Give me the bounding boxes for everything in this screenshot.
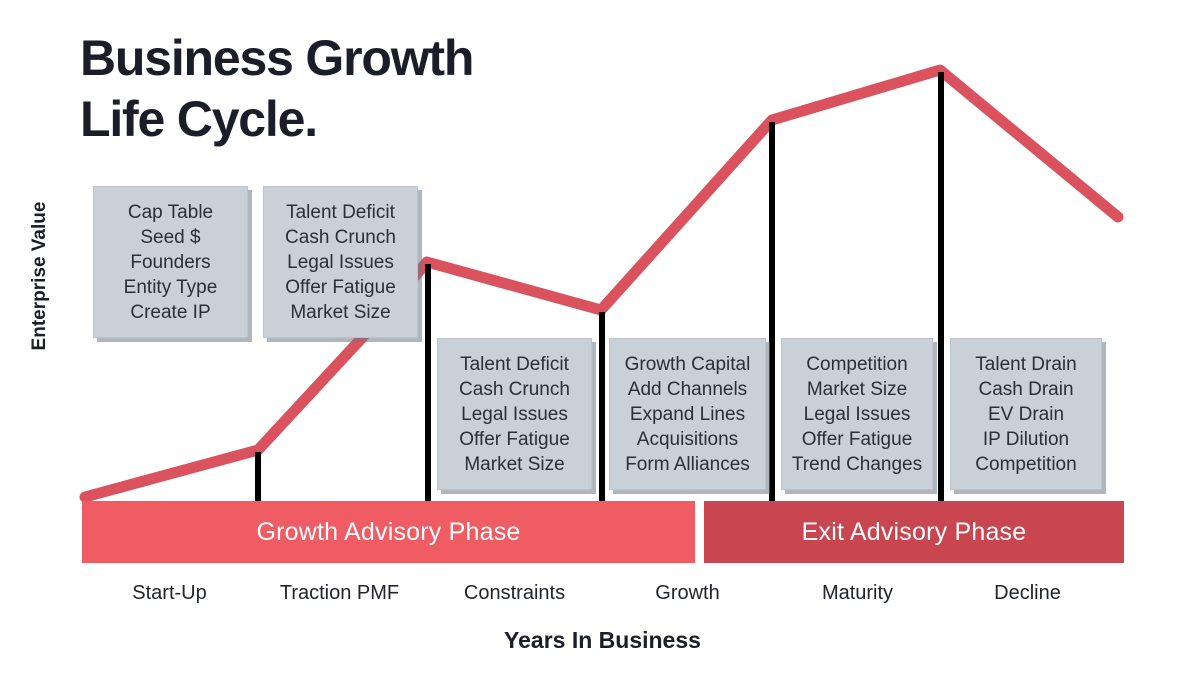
info-box-item: Cap Table (128, 200, 213, 225)
info-box-item: Trend Changes (792, 452, 922, 477)
info-box-start-up: Cap Table Seed $ Founders Entity Type Cr… (93, 186, 248, 338)
info-box-item: Cash Drain (978, 377, 1073, 402)
info-box-item: Form Alliances (625, 452, 750, 477)
info-box-item: Competition (806, 352, 907, 377)
stage-label-growth: Growth (610, 582, 765, 605)
info-box-item: Entity Type (124, 275, 218, 300)
info-box-constraints: Talent Deficit Cash Crunch Legal Issues … (437, 338, 592, 490)
info-box-item: Competition (975, 452, 1076, 477)
info-box-item: IP Dilution (983, 427, 1069, 452)
stage-label-decline: Decline (950, 582, 1105, 605)
info-box-maturity: Competition Market Size Legal Issues Off… (781, 338, 933, 490)
phase-bar-label: Exit Advisory Phase (802, 518, 1027, 547)
info-box-item: Talent Deficit (460, 352, 569, 377)
info-box-item: Cash Crunch (285, 225, 396, 250)
stage-label-constraints: Constraints (437, 582, 592, 605)
info-box-item: Growth Capital (625, 352, 751, 377)
info-box-item: Create IP (130, 300, 210, 325)
info-box-item: Offer Fatigue (802, 427, 913, 452)
info-box-decline: Talent Drain Cash Drain EV Drain IP Dilu… (950, 338, 1102, 490)
info-box-item: Legal Issues (461, 402, 568, 427)
info-box-item: Cash Crunch (459, 377, 570, 402)
phase-bar-growth-advisory[interactable]: Growth Advisory Phase (82, 501, 695, 563)
stage-label-traction-pmf: Traction PMF (262, 582, 417, 605)
info-box-item: Market Size (807, 377, 907, 402)
info-box-item: Add Channels (628, 377, 747, 402)
info-box-item: Legal Issues (287, 250, 394, 275)
info-box-item: Founders (130, 250, 210, 275)
info-box-item: Offer Fatigue (285, 275, 396, 300)
info-box-item: Talent Drain (975, 352, 1076, 377)
phase-bar-exit-advisory[interactable]: Exit Advisory Phase (704, 501, 1124, 563)
info-box-item: Talent Deficit (286, 200, 395, 225)
diagram-canvas: Business Growth Life Cycle. Enterprise V… (0, 0, 1200, 675)
info-box-item: EV Drain (988, 402, 1064, 427)
info-box-item: Market Size (464, 452, 564, 477)
stage-label-maturity: Maturity (780, 582, 935, 605)
info-box-item: Expand Lines (630, 402, 745, 427)
info-box-item: Legal Issues (804, 402, 911, 427)
info-box-item: Acquisitions (637, 427, 738, 452)
info-box-item: Offer Fatigue (459, 427, 570, 452)
info-box-growth: Growth Capital Add Channels Expand Lines… (609, 338, 766, 490)
info-box-item: Seed $ (140, 225, 200, 250)
info-box-item: Market Size (290, 300, 390, 325)
info-box-traction-pmf: Talent Deficit Cash Crunch Legal Issues … (263, 186, 418, 338)
phase-bar-label: Growth Advisory Phase (256, 518, 520, 547)
stage-label-start-up: Start-Up (92, 582, 247, 605)
